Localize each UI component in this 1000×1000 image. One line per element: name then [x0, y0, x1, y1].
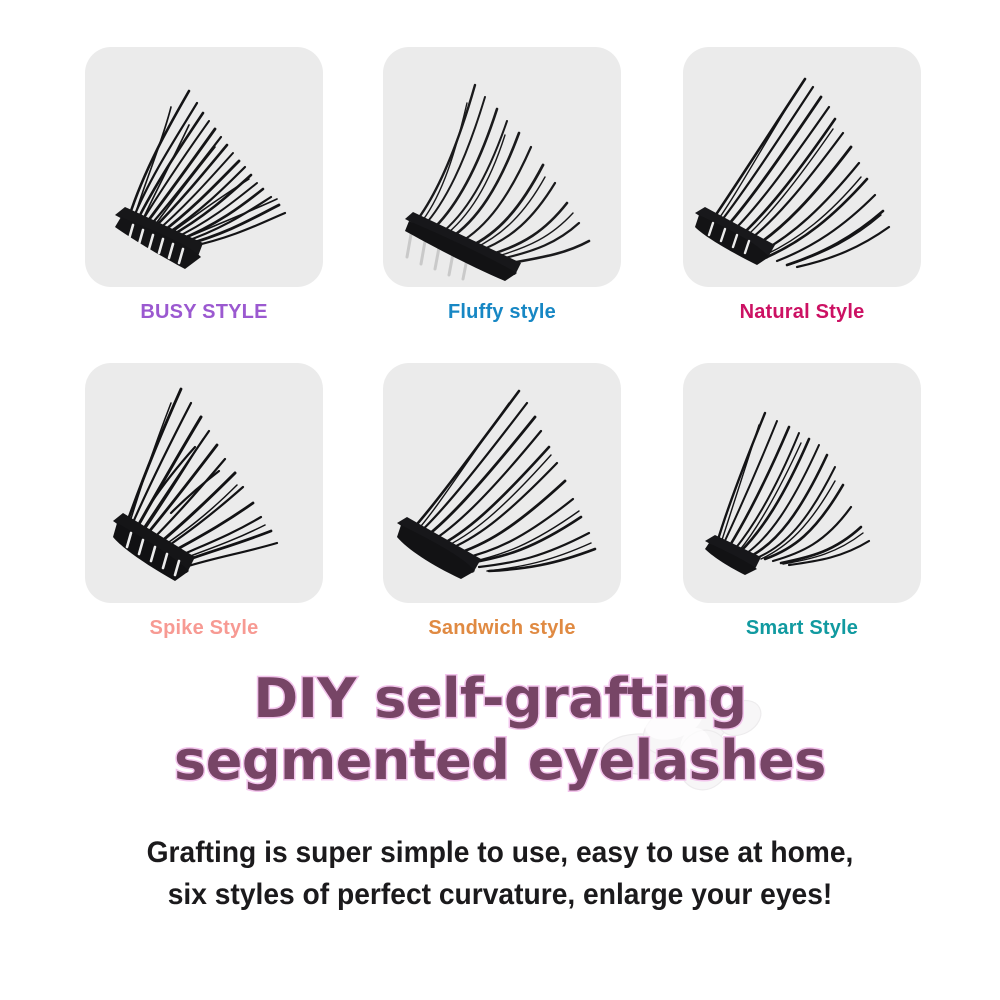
- style-thumbnail-smart[interactable]: [683, 363, 921, 603]
- style-label-busy: BUSY STYLE: [85, 299, 323, 325]
- eyelash-image-smart: [683, 363, 921, 603]
- style-card-natural[interactable]: Natural Style: [683, 47, 921, 325]
- headline-line-1: DIY self-grafting: [0, 668, 1000, 730]
- eyelash-image-busy: [85, 47, 323, 287]
- style-thumbnail-busy[interactable]: [85, 47, 323, 287]
- eyelash-image-sandwich: [383, 363, 621, 603]
- style-card-smart[interactable]: Smart Style: [683, 363, 921, 641]
- style-label-smart: Smart Style: [683, 615, 921, 641]
- style-card-spike[interactable]: Spike Style: [85, 363, 323, 641]
- style-label-sandwich: Sandwich style: [383, 615, 621, 641]
- style-thumbnail-fluffy[interactable]: [383, 47, 621, 287]
- eyelash-image-natural: [683, 47, 921, 287]
- style-label-spike: Spike Style: [85, 615, 323, 641]
- subcopy-line-2: six styles of perfect curvature, enlarge…: [30, 874, 970, 916]
- style-card-busy[interactable]: BUSY STYLE: [85, 47, 323, 325]
- eyelash-image-spike: [85, 363, 323, 603]
- product-style-grid: BUSY STYLE: [0, 0, 1000, 660]
- style-thumbnail-natural[interactable]: [683, 47, 921, 287]
- style-card-sandwich[interactable]: Sandwich style: [383, 363, 621, 641]
- style-thumbnail-sandwich[interactable]: [383, 363, 621, 603]
- style-label-fluffy: Fluffy style: [383, 299, 621, 325]
- page-headline: DIY self-grafting segmented eyelashes: [0, 668, 1000, 792]
- subcopy-line-1: Grafting is super simple to use, easy to…: [30, 832, 970, 874]
- eyelash-image-fluffy: [383, 47, 621, 287]
- style-label-natural: Natural Style: [683, 299, 921, 325]
- headline-line-2: segmented eyelashes: [0, 730, 1000, 792]
- headline-block: DIY self-grafting segmented eyelashes: [0, 668, 1000, 808]
- style-card-fluffy[interactable]: Fluffy style: [383, 47, 621, 325]
- page-subcopy: Grafting is super simple to use, easy to…: [30, 832, 970, 916]
- style-thumbnail-spike[interactable]: [85, 363, 323, 603]
